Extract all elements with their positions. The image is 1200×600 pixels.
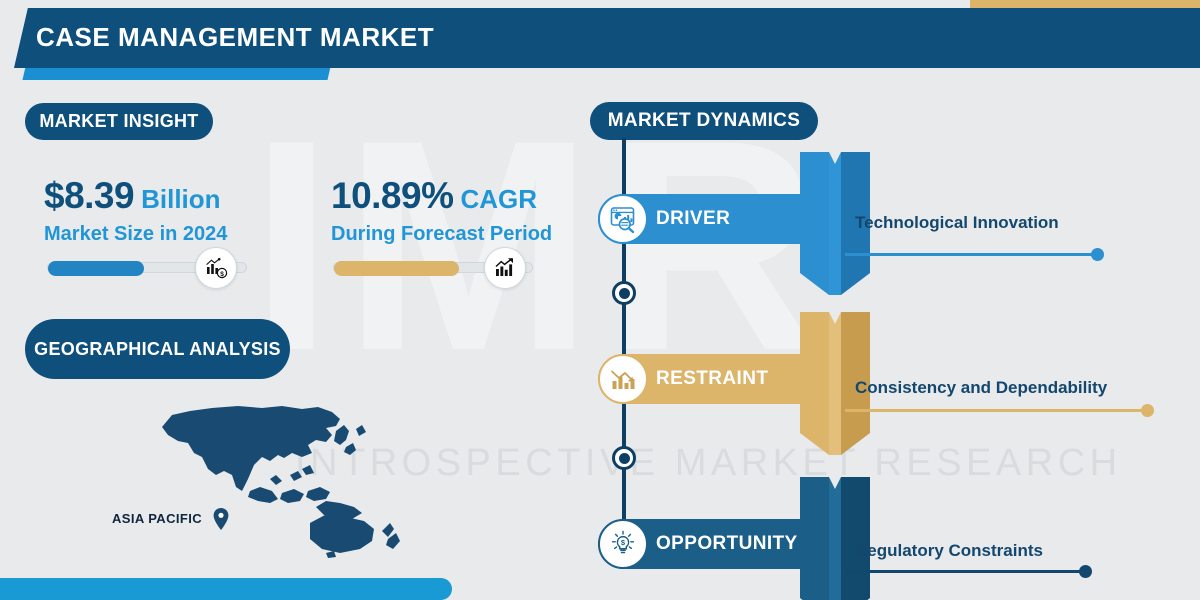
svg-text:$: $ — [621, 538, 626, 547]
opportunity-ribbon — [800, 477, 870, 600]
opportunity-connector-label: Regulatory Constraints — [855, 541, 1043, 561]
declining-bar-chart-icon — [598, 354, 648, 404]
timeline-node — [612, 281, 636, 305]
restraint-connector-dot — [1141, 404, 1154, 417]
driver-label: DRIVER — [656, 208, 730, 230]
restraint-label: RESTRAINT — [656, 368, 768, 390]
kpi-cagr: 10.89%CAGR During Forecast Period — [331, 175, 552, 246]
progress-fill — [334, 261, 459, 276]
header-gold-band — [970, 0, 1200, 8]
growth-chart-arrow-icon — [484, 247, 526, 289]
map-pin-icon — [213, 508, 229, 535]
footer-bar — [0, 578, 452, 600]
market-dynamics-pill: MARKET DYNAMICS — [590, 102, 818, 140]
kpi-market-size-unit: Billion — [141, 184, 220, 214]
kpi-market-size: $8.39Billion Market Size in 2024 — [44, 175, 227, 246]
driver-connector-dot — [1091, 248, 1104, 261]
restraint-bar[interactable]: RESTRAINT — [598, 354, 818, 404]
timeline-node — [612, 446, 636, 470]
opportunity-bar[interactable]: $ OPPORTUNITY — [598, 519, 818, 569]
kpi-cagr-value: 10.89% — [331, 175, 454, 216]
progress-fill — [48, 261, 144, 276]
svg-text:$: $ — [220, 271, 224, 278]
infographic-canvas: IMR INTROSPECTIVE MARKET RESEARCH CASE M… — [0, 0, 1200, 600]
restraint-connector-label: Consistency and Dependability — [855, 378, 1107, 398]
opportunity-label: OPPORTUNITY — [656, 533, 798, 555]
kpi-market-size-subtitle: Market Size in 2024 — [44, 223, 227, 246]
region-label: ASIA PACIFIC — [112, 511, 202, 526]
opportunity-connector-line — [845, 570, 1085, 573]
driver-connector-label: Technological Innovation — [855, 213, 1059, 233]
geographical-analysis-pill: GEOGRAPHICAL ANALYSIS — [25, 319, 290, 379]
dashboard-analytics-icon — [598, 194, 648, 244]
opportunity-connector-dot — [1079, 565, 1092, 578]
geographical-analysis-label: GEOGRAPHICAL ANALYSIS — [34, 338, 281, 360]
asia-pacific-map — [150, 395, 420, 560]
kpi-market-size-value: $8.39 — [44, 175, 134, 216]
kpi-cagr-unit: CAGR — [461, 184, 538, 214]
driver-bar[interactable]: DRIVER — [598, 194, 818, 244]
bar-chart-dollar-icon: $ — [195, 247, 237, 289]
restraint-connector-line — [845, 409, 1147, 412]
driver-connector-line — [845, 253, 1097, 256]
market-insight-pill: MARKET INSIGHT — [25, 103, 213, 140]
lightbulb-dollar-icon: $ — [598, 519, 648, 569]
page-title: CASE MANAGEMENT MARKET — [36, 22, 434, 53]
kpi-cagr-subtitle: During Forecast Period — [331, 223, 552, 246]
